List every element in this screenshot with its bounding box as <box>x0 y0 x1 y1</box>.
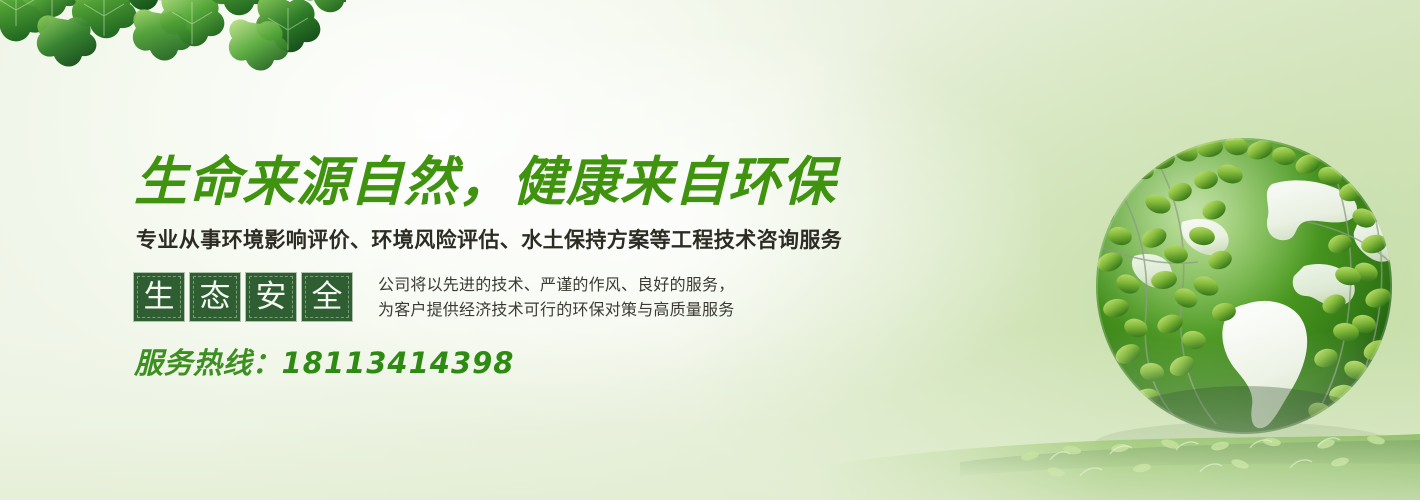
stamp-box: 全 <box>302 273 352 321</box>
stamp-char: 生 <box>144 279 175 315</box>
blurb-line: 公司将以先进的技术、严谨的作风、良好的服务， <box>378 272 854 297</box>
blurb: 公司将以先进的技术、严谨的作风、良好的服务， 为客户提供经济技术可行的环保对策与… <box>378 272 854 322</box>
stamp-char: 安 <box>256 279 287 315</box>
blurb-line: 为客户提供经济技术可行的环保对策与高质量服务 <box>378 297 854 322</box>
stamps-and-blurb-row: 生 态 安 全 公司将以先进的技术、严谨的作风、良好的服务， 为客户提供经济技术… <box>134 272 854 322</box>
hotline-number: 18113414398 <box>282 346 515 380</box>
copy-block: 生命来源自然，健康来自环保 专业从事环境影响评价、环境风险评估、水土保持方案等工… <box>134 152 854 382</box>
stamp-char: 态 <box>200 279 231 315</box>
grass-base-icon <box>820 404 1420 500</box>
green-globe-icon <box>1058 126 1420 486</box>
hotline-label: 服务热线： <box>134 346 282 380</box>
ivy-leaves-icon <box>0 0 346 150</box>
stamp-box: 态 <box>190 273 240 321</box>
stamp-box: 安 <box>246 273 296 321</box>
stamp-box: 生 <box>134 273 184 321</box>
headline: 生命来源自然，健康来自环保 <box>134 152 854 214</box>
stamp-char: 全 <box>312 279 343 315</box>
hotline: 服务热线：18113414398 <box>134 344 854 382</box>
eco-banner: 生命来源自然，健康来自环保 专业从事环境影响评价、环境风险评估、水土保持方案等工… <box>0 0 1420 500</box>
stamp-group: 生 态 安 全 <box>134 273 352 321</box>
subheadline: 专业从事环境影响评价、环境风险评估、水土保持方案等工程技术咨询服务 <box>136 226 854 254</box>
